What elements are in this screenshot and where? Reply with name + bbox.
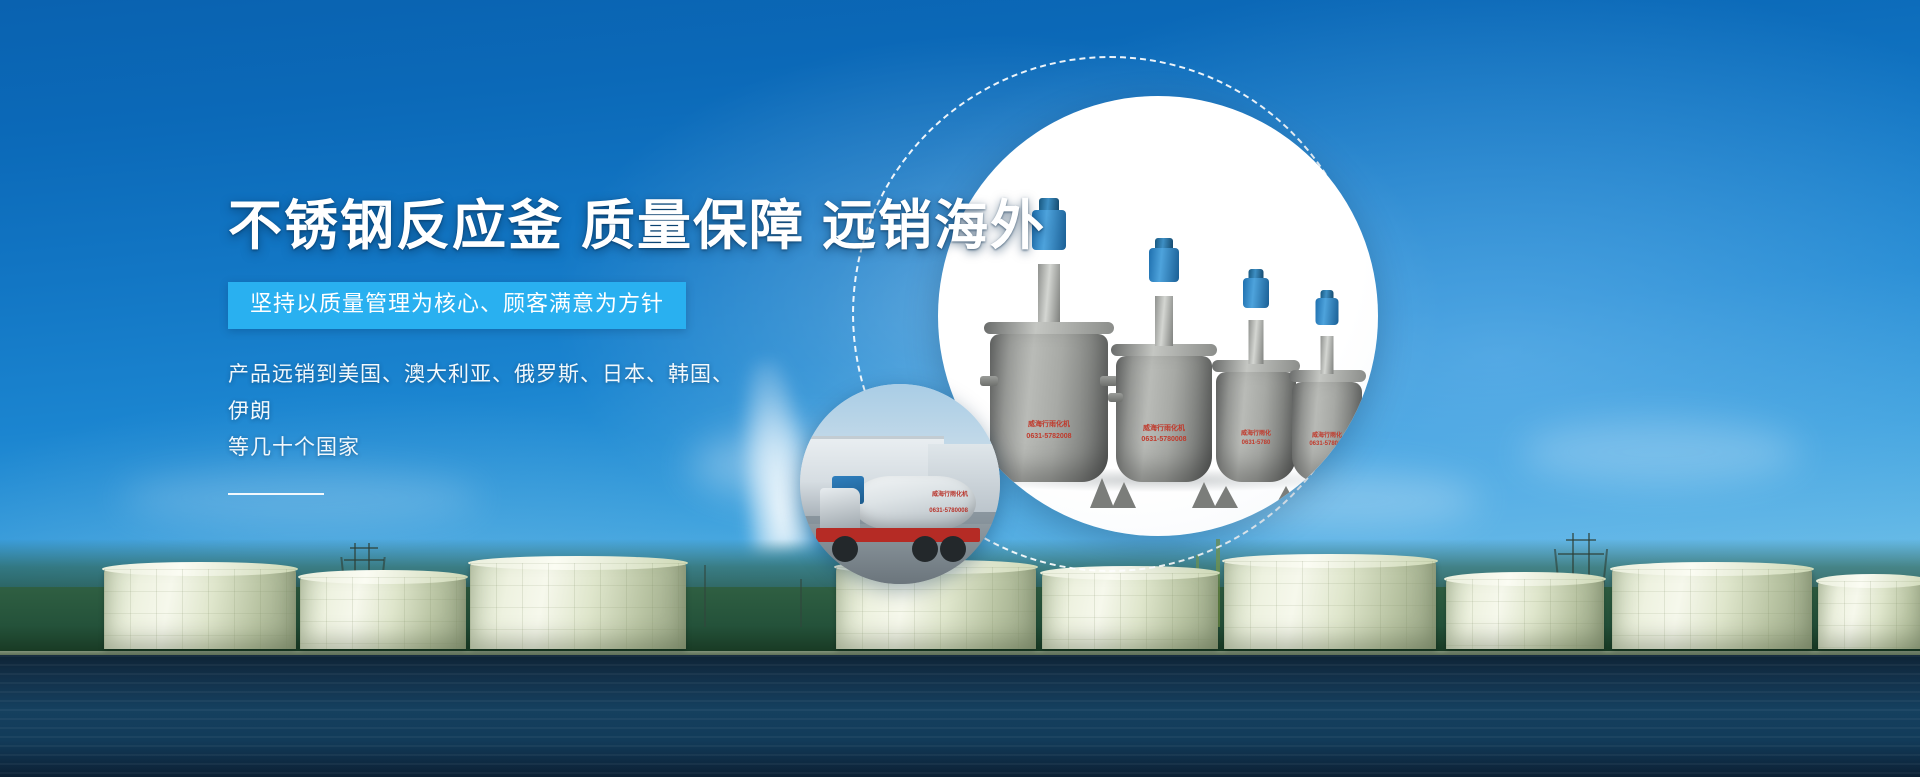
reactor-vessel-1: 威海行雨化机 0631-5782008 <box>990 296 1108 482</box>
storage-tank-2 <box>300 577 466 649</box>
accent-divider <box>228 493 324 495</box>
storage-tank-6 <box>1224 561 1436 649</box>
storage-tank-9 <box>1818 581 1920 649</box>
tanker-label-line2: 0631-5780008 <box>929 508 968 515</box>
water-foreground <box>0 655 1920 777</box>
truck-wheel-front <box>832 536 858 562</box>
reactor-vessel-2: 威海行雨化机 0631-5780008 <box>1116 316 1212 482</box>
truck-wheel-rear-2 <box>940 536 966 562</box>
banner-highlight-bar: 坚持以质量管理为核心、顾客满意为方针 <box>228 282 686 328</box>
banner-headline: 不锈钢反应釜 质量保障 远销海外 <box>228 196 948 256</box>
reactor-vessel-4: 威海行雨化 0631-578000 <box>1292 344 1362 482</box>
vessel-label-4-line1: 威海行雨化 <box>1312 433 1342 441</box>
cloud-4 <box>1520 420 1800 484</box>
vessel-label-3-line1: 威海行雨化 <box>1241 431 1271 439</box>
truck-wheel-rear-1 <box>912 536 938 562</box>
vessel-label-1-line1: 威海行雨化机 <box>1028 421 1070 430</box>
storage-tank-1 <box>104 569 296 649</box>
paragraph-line-1: 产品远销到美国、澳大利亚、俄罗斯、日本、韩国、伊朗 <box>228 363 734 423</box>
vessel-label-1-line2: 0631-5782008 <box>1026 433 1071 442</box>
vessel-label-2-line1: 威海行雨化机 <box>1143 425 1185 434</box>
mast-1 <box>704 565 706 627</box>
storage-tank-5 <box>1042 573 1218 649</box>
hero-banner: 威海行雨化机 0631-5782008 威海行雨化机 0631-5780008 <box>0 0 1920 777</box>
product-photo-reactors: 威海行雨化机 0631-5782008 威海行雨化机 0631-5780008 <box>938 96 1378 536</box>
mast-4 <box>800 579 802 627</box>
vessel-label-3-line2: 0631-5780 <box>1242 440 1271 448</box>
vessel-label-2-line2: 0631-5780008 <box>1141 436 1186 445</box>
reactor-vessel-3: 威海行雨化 0631-5780 <box>1216 332 1296 482</box>
vessel-label-4-line2: 0631-578000 <box>1309 441 1344 449</box>
banner-copy-block: 不锈钢反应釜 质量保障 远销海外 坚持以质量管理为核心、顾客满意为方针 产品远销… <box>228 196 948 495</box>
paragraph-line-2: 等几十个国家 <box>228 436 360 459</box>
banner-paragraph: 产品远销到美国、澳大利亚、俄罗斯、日本、韩国、伊朗 等几十个国家 <box>228 357 748 467</box>
storage-tank-3 <box>470 563 686 649</box>
storage-tank-8 <box>1612 569 1812 649</box>
storage-tank-7 <box>1446 579 1604 649</box>
